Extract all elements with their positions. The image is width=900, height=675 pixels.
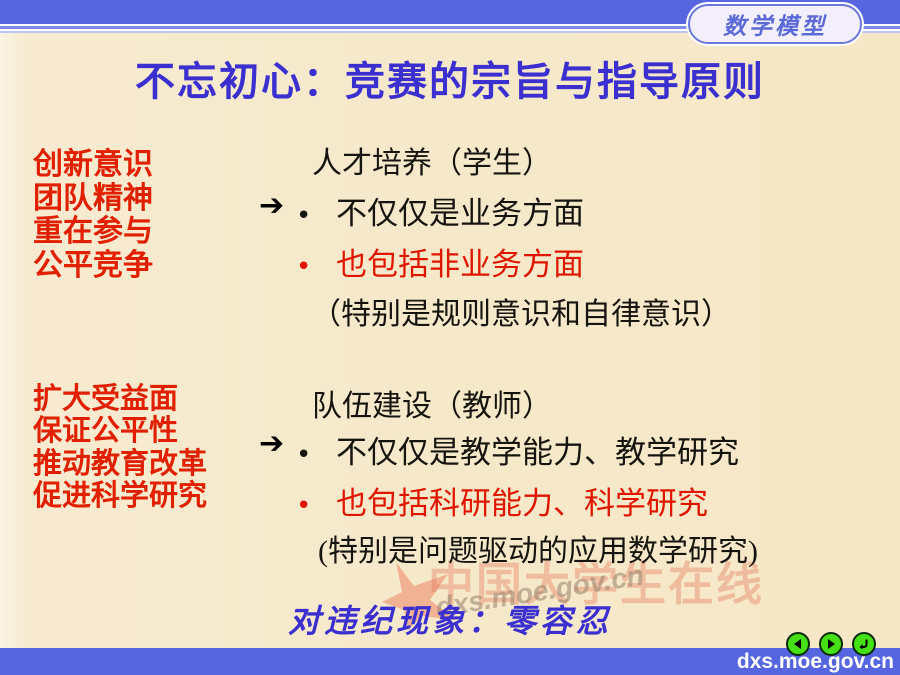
keyword-item: 重在参与 [33,215,153,249]
bullet-text: 也包括非业务方面 [336,239,584,284]
right-arrow-icon: ➔ [259,429,284,459]
footer-statement: 对违纪现象：零容忍 [0,596,900,642]
section-note-talent: （特别是规则意识和自律意识） [311,289,731,333]
bullet-dot-icon: • [296,254,336,280]
keyword-item: 扩大受益面 [33,383,207,415]
previous-slide-button[interactable] [786,632,810,656]
triangle-right-icon [825,638,837,650]
keyword-item: 创新意识 [33,148,153,182]
bullet-text: 不仅仅是教学能力、教学研究 [336,427,739,472]
section-note-faculty: (特别是问题驱动的应用数学研究) [318,526,758,570]
keyword-item: 推动教育改革 [33,448,207,480]
triangle-left-icon [792,638,804,650]
keyword-column-2: 扩大受益面 保证公平性 推动教育改革 促进科学研究 [33,383,207,513]
keyword-item: 团队精神 [33,182,153,216]
keyword-column-1: 创新意识 团队精神 重在参与 公平竞争 [33,148,153,282]
bullet-dot-icon: • [296,493,336,519]
right-arrow-icon: ➔ [259,191,284,221]
return-slide-button[interactable] [852,632,876,656]
bullet-row: • 也包括非业务方面 [296,239,584,284]
section-heading-faculty: 队伍建设（教师） [312,381,552,425]
bullet-text: 也包括科研能力、科学研究 [336,478,708,523]
bullet-dot-icon: • [296,442,336,468]
slide-content: 创新意识 团队精神 重在参与 公平竞争 人才培养（学生） ➔ • 不仅仅是业务方… [0,0,900,675]
keyword-item: 公平竞争 [33,249,153,283]
slide-navigation[interactable] [786,632,876,656]
keyword-item: 保证公平性 [33,415,207,447]
slide-canvas: 数学模型 不忘初心：竞赛的宗旨与指导原则 中国大学生在线 dxs.moe.gov… [0,0,900,675]
bullet-row: • 也包括科研能力、科学研究 [296,478,708,523]
section-heading-talent: 人才培养（学生） [312,138,552,182]
keyword-item: 促进科学研究 [33,480,207,512]
next-slide-button[interactable] [819,632,843,656]
return-arrow-icon [858,638,871,651]
bullet-row: • 不仅仅是业务方面 [296,188,584,233]
bullet-text: 不仅仅是业务方面 [336,188,584,233]
bullet-dot-icon: • [296,203,336,229]
bullet-row: • 不仅仅是教学能力、教学研究 [296,427,739,472]
